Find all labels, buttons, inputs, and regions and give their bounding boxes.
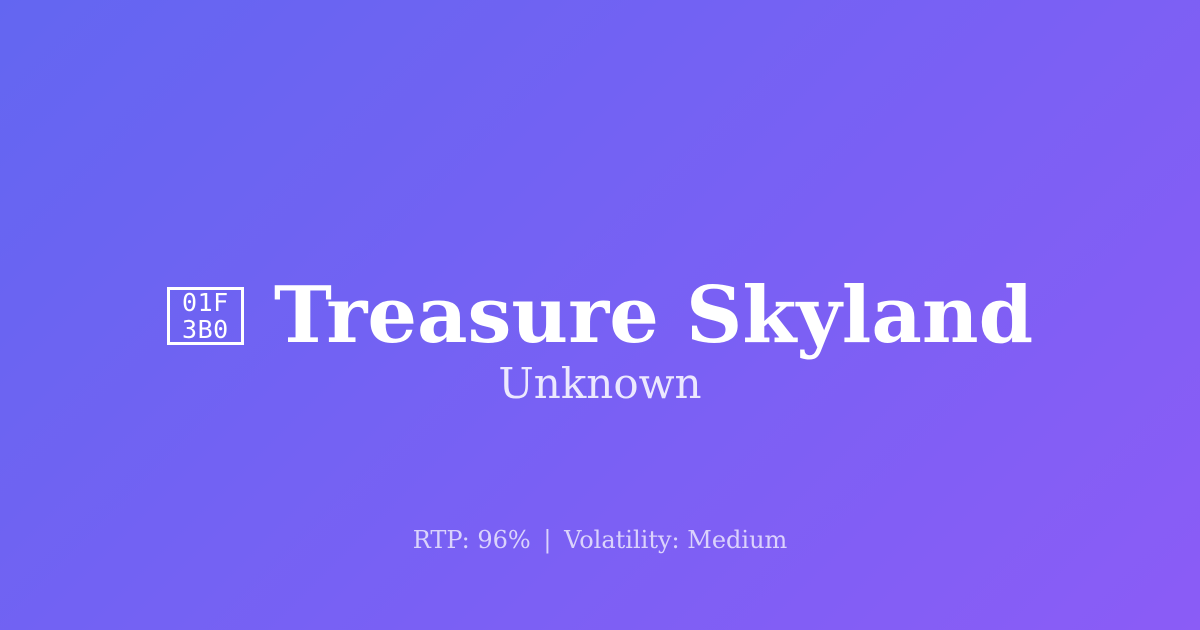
slot-machine-icon: 01F 3B0 bbox=[167, 287, 244, 345]
meta-separator: | bbox=[538, 526, 556, 554]
rtp-label: RTP: 96% bbox=[413, 526, 531, 554]
tofu-codepoint-bottom: 3B0 bbox=[182, 317, 229, 342]
og-share-card: 01F 3B0 Treasure Skyland Unknown RTP: 96… bbox=[0, 0, 1200, 630]
page-title: Treasure Skyland bbox=[274, 277, 1033, 355]
tofu-codepoint-top: 01F bbox=[182, 290, 229, 315]
subtitle: Unknown bbox=[0, 363, 1200, 405]
volatility-label: Volatility: Medium bbox=[564, 526, 787, 554]
game-meta: RTP: 96% | Volatility: Medium bbox=[0, 528, 1200, 552]
